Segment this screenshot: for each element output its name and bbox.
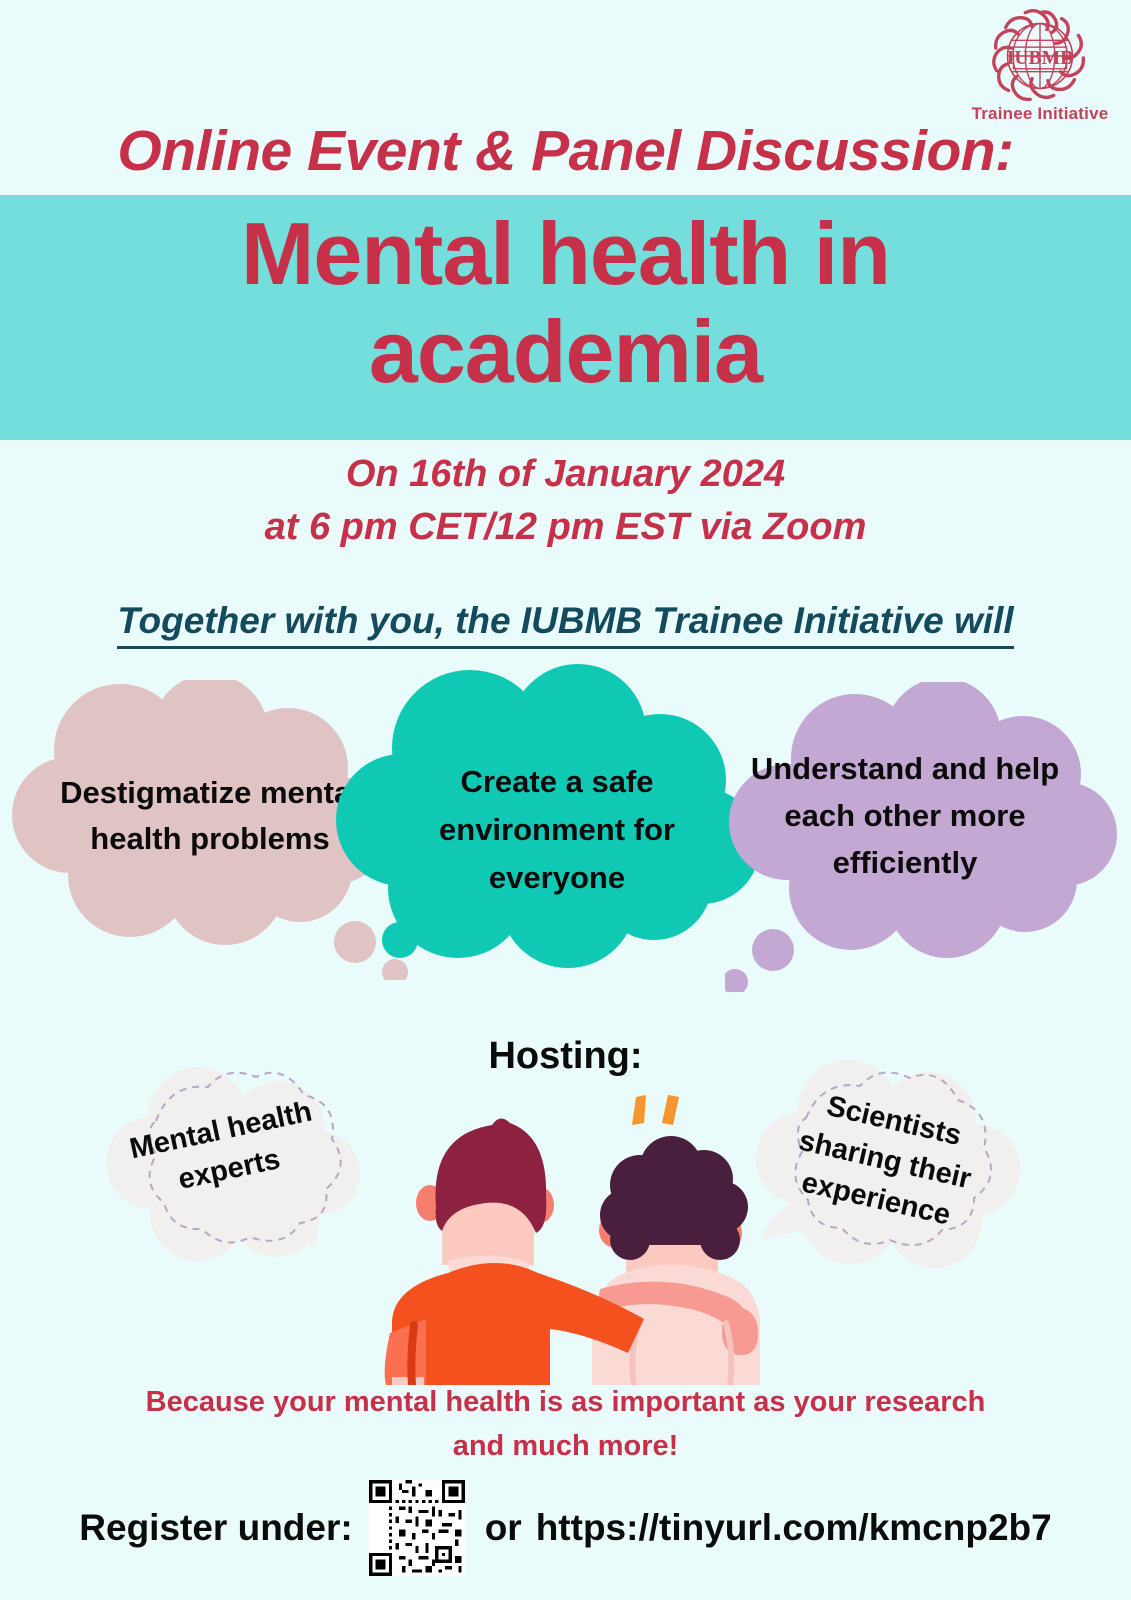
tagline-line-1: Because your mental health is as importa…: [0, 1380, 1131, 1424]
tagline-line-2: and much more!: [0, 1424, 1131, 1468]
title-line-2: academia: [0, 303, 1131, 401]
iubmb-globe-icon: IUBMB: [981, 4, 1099, 108]
goal-label-understand: Understand and help each other more effi…: [750, 745, 1060, 886]
thought-dot: [725, 969, 748, 992]
iubmb-logo: IUBMB Trainee Initiative: [965, 4, 1115, 124]
title-line-1: Mental health in: [0, 205, 1131, 303]
event-kicker: Online Event & Panel Discussion:: [0, 118, 1131, 184]
registration-row: Register under:: [0, 1480, 1131, 1576]
two-people-illustration: [368, 1075, 768, 1385]
register-url[interactable]: https://tinyurl.com/kmcnp2b7: [536, 1507, 1052, 1549]
intro-line: Together with you, the IUBMB Trainee Ini…: [0, 600, 1131, 649]
register-or-label: or: [485, 1507, 522, 1549]
thought-dot: [382, 922, 418, 958]
goal-label-destigmatize: Destigmatize mental health problems: [50, 770, 370, 862]
goals-cloud-group: Destigmatize mental health problems Crea…: [0, 660, 1131, 1060]
iubmb-logo-text: IUBMB: [1007, 47, 1074, 69]
register-label: Register under:: [79, 1507, 352, 1549]
event-date: On 16th of January 2024: [0, 448, 1131, 501]
thought-dot: [752, 929, 794, 971]
event-datetime: On 16th of January 2024 at 6 pm CET/12 p…: [0, 448, 1131, 554]
page-title: Mental health in academia: [0, 205, 1131, 401]
intro-line-text: Together with you, the IUBMB Trainee Ini…: [117, 600, 1013, 649]
poster-tagline: Because your mental health is as importa…: [0, 1380, 1131, 1468]
poster-canvas: IUBMB Trainee Initiative Online Event & …: [0, 0, 1131, 1600]
goal-label-safe-environment: Create a safe environment for everyone: [392, 758, 722, 902]
event-time: at 6 pm CET/12 pm EST via Zoom: [0, 501, 1131, 554]
qr-code-icon[interactable]: [369, 1480, 465, 1576]
excitement-marks-icon: [632, 1095, 679, 1125]
